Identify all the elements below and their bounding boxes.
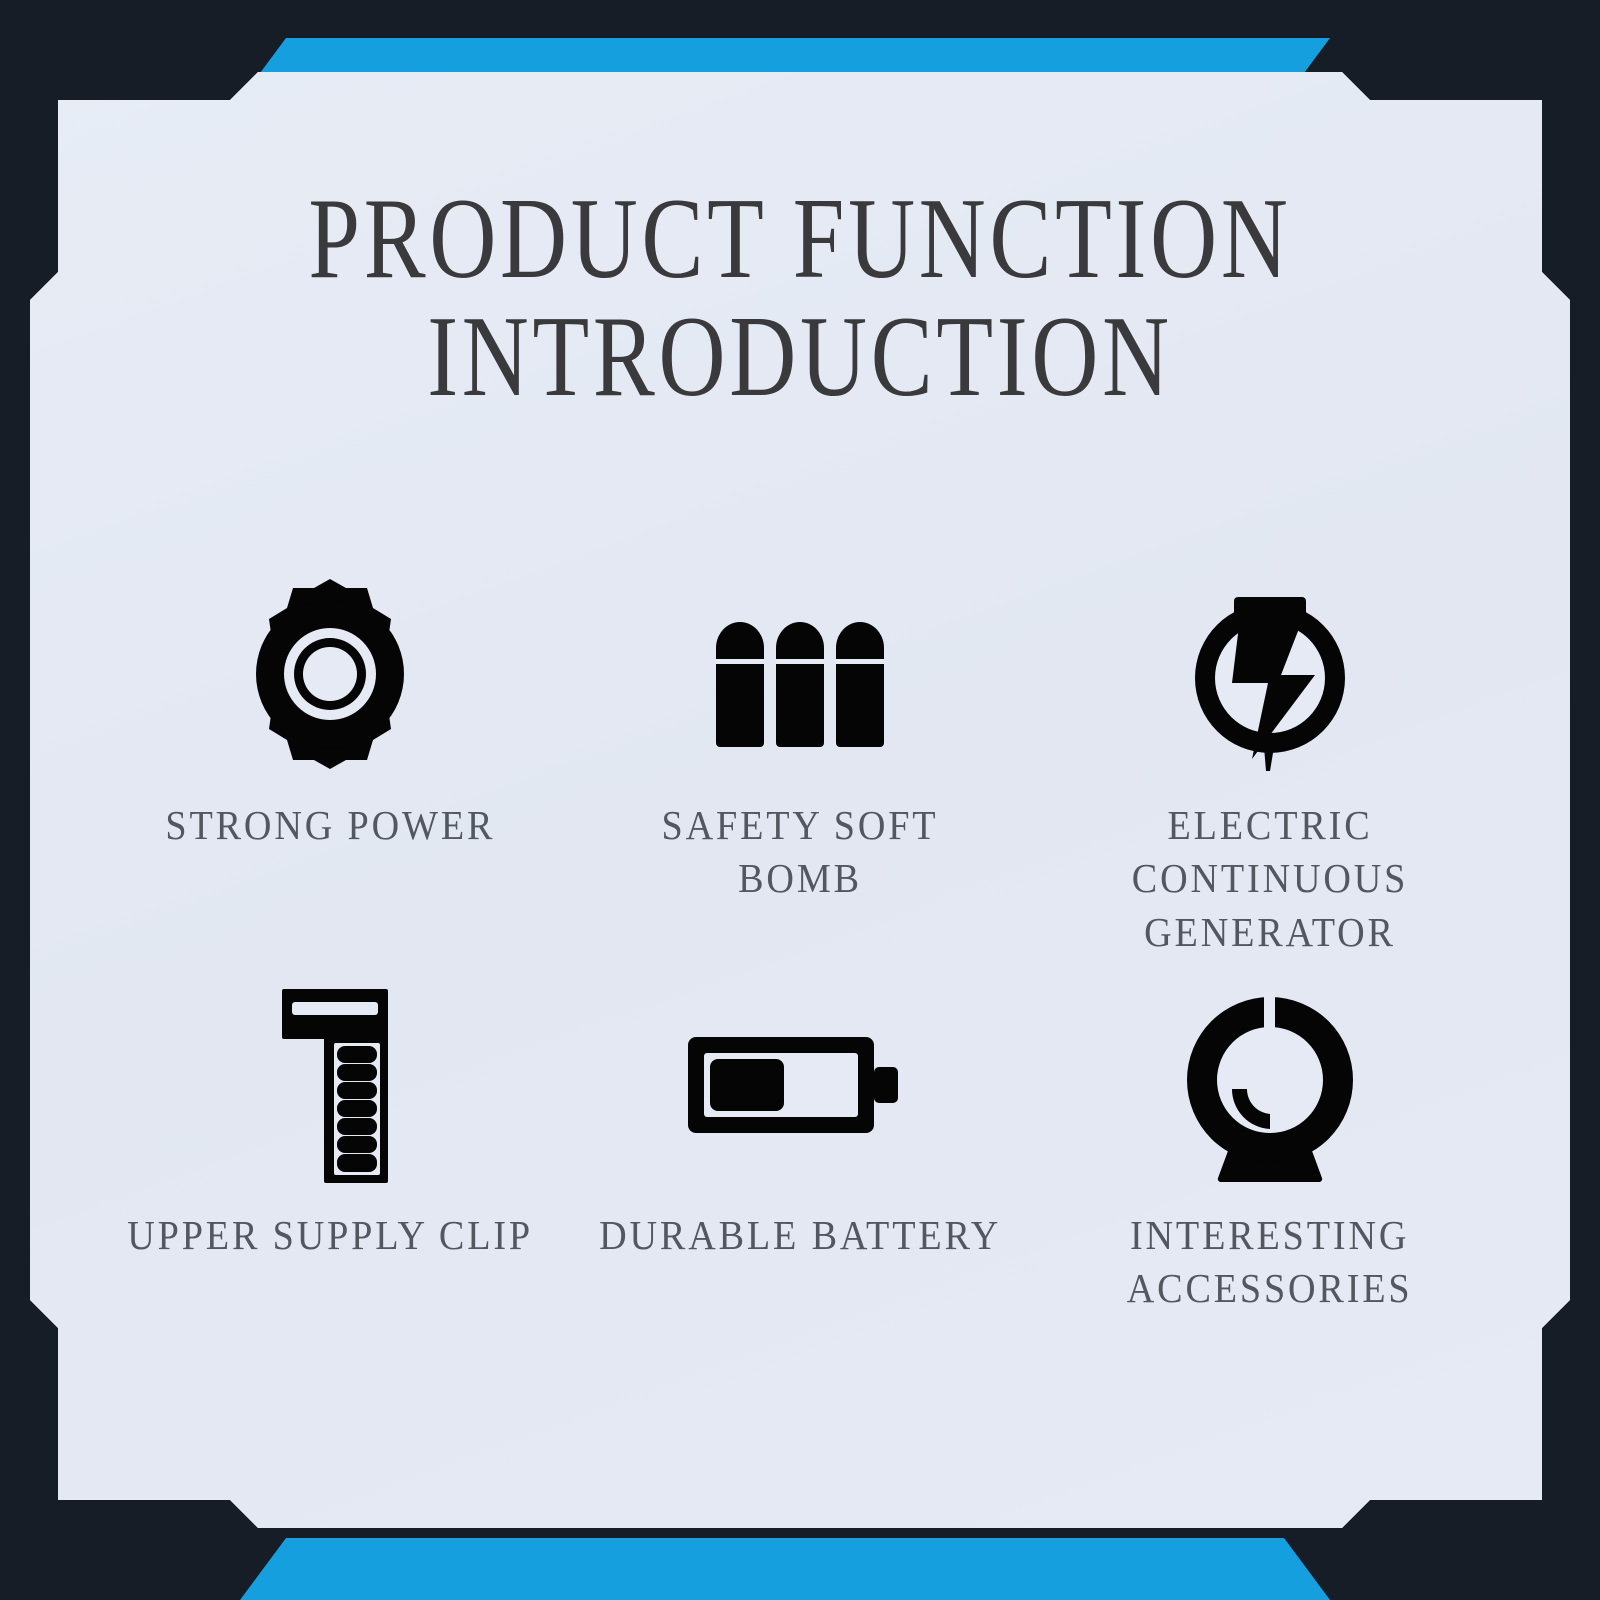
feature-label-line-2: GENERATOR xyxy=(1065,906,1474,959)
feature-item-strong-power: STRONG POWER xyxy=(95,565,565,965)
feature-label-line-1: UPPER SUPPLY CLIP xyxy=(127,1209,533,1262)
battery-icon xyxy=(680,975,920,1195)
feature-grid: STRONG POWER xyxy=(95,565,1505,1375)
feature-label: STRONG POWER xyxy=(165,799,495,852)
page-title-line-1: PRODUCT FUNCTION xyxy=(160,180,1440,298)
feature-item-safety-soft-bomb: SAFETY SOFT BOMB xyxy=(565,565,1035,965)
feature-label-line-1: STRONG POWER xyxy=(165,799,495,852)
feature-label-line-1: DURABLE BATTERY xyxy=(599,1209,1001,1262)
bullets-icon xyxy=(700,565,900,785)
feature-label: ELECTRIC CONTINUOUS GENERATOR xyxy=(1065,799,1474,959)
page-title: PRODUCT FUNCTION INTRODUCTION xyxy=(160,180,1440,417)
feature-label: DURABLE BATTERY xyxy=(599,1209,1001,1262)
feature-label: UPPER SUPPLY CLIP xyxy=(127,1209,533,1262)
magazine-clip-icon xyxy=(230,975,430,1195)
feature-label: SAFETY SOFT BOMB xyxy=(595,799,1004,906)
feature-item-electric-continuous-generator: ELECTRIC CONTINUOUS GENERATOR xyxy=(1035,565,1505,965)
feature-label: INTERESTING ACCESSORIES xyxy=(1127,1209,1413,1316)
lightning-bolt-icon xyxy=(1170,565,1370,785)
gear-icon xyxy=(230,565,430,785)
product-feature-poster: PRODUCT FUNCTION INTRODUCTION xyxy=(0,0,1600,1600)
feature-label-line-1: INTERESTING xyxy=(1127,1209,1413,1262)
feature-label-line-2: ACCESSORIES xyxy=(1127,1262,1413,1315)
feature-label-line-1: ELECTRIC CONTINUOUS xyxy=(1065,799,1474,906)
feature-item-durable-battery: DURABLE BATTERY xyxy=(565,975,1035,1375)
feature-label-line-1: SAFETY SOFT BOMB xyxy=(595,799,1004,906)
page-title-line-2: INTRODUCTION xyxy=(160,298,1440,416)
camera-ring-icon xyxy=(1170,975,1370,1195)
feature-item-interesting-accessories: INTERESTING ACCESSORIES xyxy=(1035,975,1505,1375)
feature-item-upper-supply-clip: UPPER SUPPLY CLIP xyxy=(95,975,565,1375)
